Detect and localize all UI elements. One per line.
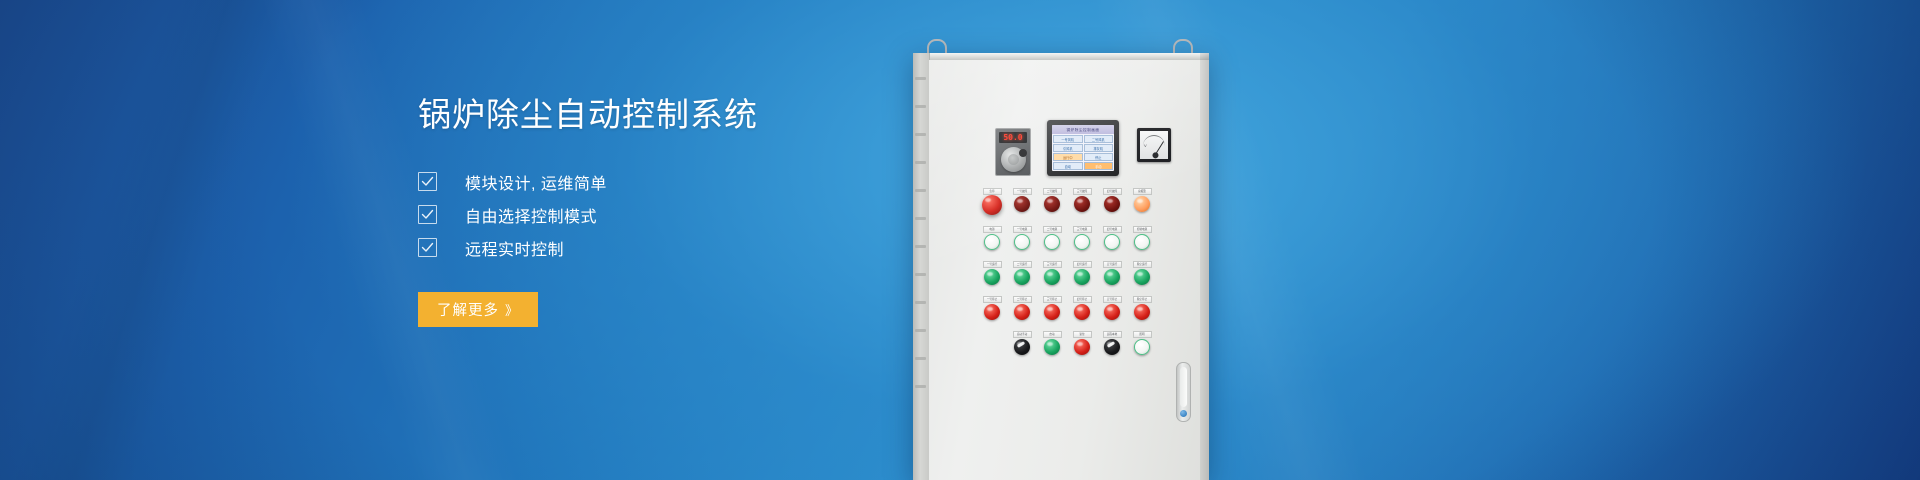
learn-more-button[interactable]: 了解更多 》 — [418, 292, 538, 327]
button-stop-4[interactable]: 四号停止 — [1067, 296, 1097, 320]
indicator-power[interactable]: 电源 — [977, 226, 1007, 250]
indicator-power-control[interactable]: 控制电源 — [1127, 226, 1157, 250]
button-tag: 四号电源 — [1103, 226, 1122, 233]
cabinet-top-edge — [913, 53, 1209, 60]
hmi-cell[interactable]: 运行中 — [1053, 153, 1083, 161]
indicator-run-4[interactable]: 四号运行 — [1067, 261, 1097, 285]
checkbox-checked-icon — [418, 205, 437, 224]
meter-scale-arc — [1143, 135, 1165, 146]
lamp-icon[interactable] — [1074, 339, 1090, 355]
hmi-cell[interactable]: 一号风机 — [1053, 135, 1083, 143]
checkbox-checked-icon — [418, 172, 437, 191]
lamp-icon[interactable] — [1104, 196, 1120, 212]
switch-lighting[interactable]: 照明 — [1127, 331, 1157, 355]
button-tag: 控制电源 — [1133, 226, 1152, 233]
page-title: 锅炉除尘自动控制系统 — [418, 95, 938, 135]
indicator-button-panel: 急停 一号故障 二号故障 三号故障 四号故障 总报警 电源 一号电源 二号电源 … — [977, 188, 1187, 366]
button-row: 一号运行 二号运行 三号运行 四号运行 五号运行 除尘运行 — [977, 261, 1187, 285]
hmi-header-label: 锅炉除尘控制画面 — [1066, 127, 1099, 133]
button-tag: 除尘运行 — [1133, 261, 1152, 268]
button-stop-1[interactable]: 一号停止 — [977, 296, 1007, 320]
lamp-icon[interactable] — [1104, 304, 1120, 320]
chevron-right-icon: 》 — [505, 300, 519, 319]
hmi-cell[interactable]: 手动 — [1084, 162, 1114, 170]
cabinet-door: 50.0 锅炉除尘控制画面 一号风机 二号风机 引风机 排灰 — [929, 60, 1209, 480]
button-tag: 急停 — [983, 188, 1002, 195]
button-stop-dust[interactable]: 除尘停止 — [1127, 296, 1157, 320]
button-tag: 二号运行 — [1013, 261, 1032, 268]
indicator-fault-3[interactable]: 三号故障 — [1067, 188, 1097, 215]
lamp-icon[interactable] — [982, 195, 1002, 215]
button-tag: 二号停止 — [1013, 296, 1032, 303]
selector-switch-icon[interactable] — [1104, 339, 1120, 355]
cabinet-right-edge — [1200, 53, 1209, 480]
button-tag: 一号停止 — [983, 296, 1002, 303]
lamp-icon[interactable] — [1014, 304, 1030, 320]
cabinet-body: 50.0 锅炉除尘控制画面 一号风机 二号风机 引风机 排灰 — [913, 53, 1209, 480]
button-tag: 一号故障 — [1013, 188, 1032, 195]
button-tag: 五号运行 — [1103, 261, 1122, 268]
button-tag: 四号运行 — [1073, 261, 1092, 268]
meter-face: V — [1140, 131, 1168, 159]
indicator-run-5[interactable]: 五号运行 — [1097, 261, 1127, 285]
button-tag: 启动 — [1043, 331, 1062, 338]
indicator-run-3[interactable]: 三号运行 — [1037, 261, 1067, 285]
button-tag: 电源 — [983, 226, 1002, 233]
button-tag: 照明 — [1133, 331, 1152, 338]
lamp-icon[interactable] — [1044, 234, 1060, 250]
indicator-run-dust[interactable]: 除尘运行 — [1127, 261, 1157, 285]
lamp-icon[interactable] — [984, 234, 1000, 250]
indicator-run-2[interactable]: 二号运行 — [1007, 261, 1037, 285]
hmi-grid: 一号风机 二号风机 引风机 排灰机 运行中 停止 自动 手动 — [1052, 134, 1114, 171]
lamp-icon[interactable] — [1104, 234, 1120, 250]
indicator-fault-1[interactable]: 一号故障 — [1007, 188, 1037, 215]
indicator-power-2[interactable]: 二号电源 — [1037, 226, 1067, 250]
led-display: 50.0 — [999, 132, 1027, 143]
lamp-icon[interactable] — [1074, 304, 1090, 320]
lamp-icon[interactable] — [1044, 196, 1060, 212]
button-tag: 五号停止 — [1103, 296, 1122, 303]
selector-switch-icon[interactable] — [1014, 339, 1030, 355]
lamp-icon[interactable] — [1074, 196, 1090, 212]
lamp-icon[interactable] — [1014, 234, 1030, 250]
feature-list: 模块设计, 运维简单 自由选择控制模式 远程实时控制 — [418, 165, 938, 264]
button-stop-5[interactable]: 五号停止 — [1097, 296, 1127, 320]
lamp-icon[interactable] — [1044, 269, 1060, 285]
selector-auto-manual[interactable]: 自动手动 — [1007, 331, 1037, 355]
indicator-power-3[interactable]: 三号电源 — [1067, 226, 1097, 250]
lamp-icon[interactable] — [1104, 269, 1120, 285]
button-stop-3[interactable]: 三号停止 — [1037, 296, 1067, 320]
lamp-icon[interactable] — [1134, 196, 1150, 212]
cabinet-hinge-strip — [913, 53, 930, 480]
list-item: 远程实时控制 — [418, 231, 938, 264]
button-tag: 除尘停止 — [1133, 296, 1152, 303]
hmi-cell[interactable]: 停止 — [1084, 153, 1114, 161]
hmi-screen[interactable]: 锅炉除尘控制画面 一号风机 二号风机 引风机 排灰机 运行中 停止 自动 手动 — [1052, 125, 1114, 171]
lamp-icon[interactable] — [1134, 304, 1150, 320]
list-item: 自由选择控制模式 — [418, 198, 938, 231]
list-item: 模块设计, 运维简单 — [418, 165, 938, 198]
lamp-icon[interactable] — [1074, 234, 1090, 250]
digital-speed-controller[interactable]: 50.0 — [995, 128, 1031, 176]
banner-copy: 锅炉除尘自动控制系统 模块设计, 运维简单 自由选择控制模式 远程实时控制 — [418, 95, 938, 327]
selector-remote-local[interactable]: 远程本地 — [1097, 331, 1127, 355]
hmi-cell[interactable]: 二号风机 — [1084, 135, 1114, 143]
meter-unit-label: V — [1144, 143, 1147, 148]
rotary-knob[interactable] — [1001, 147, 1026, 172]
button-tag: 总报警 — [1133, 188, 1152, 195]
button-tag: 一号运行 — [983, 261, 1002, 268]
button-tag: 三号运行 — [1043, 261, 1062, 268]
lamp-icon[interactable] — [1014, 269, 1030, 285]
feature-label: 自由选择控制模式 — [465, 203, 597, 227]
button-stop-2[interactable]: 二号停止 — [1007, 296, 1037, 320]
lamp-icon[interactable] — [1014, 196, 1030, 212]
lamp-icon[interactable] — [1044, 339, 1060, 355]
button-tag: 复位 — [1073, 331, 1092, 338]
button-tag: 三号电源 — [1073, 226, 1092, 233]
lamp-icon[interactable] — [984, 269, 1000, 285]
door-lock-icon[interactable] — [1180, 410, 1187, 417]
button-tag: 二号电源 — [1043, 226, 1062, 233]
button-tag: 一号电源 — [1013, 226, 1032, 233]
button-row: 电源 一号电源 二号电源 三号电源 四号电源 控制电源 — [977, 226, 1187, 250]
hmi-cell[interactable]: 排灰机 — [1084, 144, 1114, 152]
button-tag: 四号故障 — [1103, 188, 1122, 195]
indicator-power-4[interactable]: 四号电源 — [1097, 226, 1127, 250]
indicator-power-1[interactable]: 一号电源 — [1007, 226, 1037, 250]
indicator-alarm-main[interactable]: 总报警 — [1127, 188, 1157, 215]
hmi-cell[interactable]: 引风机 — [1053, 144, 1083, 152]
hmi-touch-panel[interactable]: 锅炉除尘控制画面 一号风机 二号风机 引风机 排灰机 运行中 停止 自动 手动 — [1047, 120, 1119, 176]
feature-label: 远程实时控制 — [465, 236, 564, 260]
cabinet-door-handle[interactable] — [1176, 362, 1191, 422]
button-tag: 三号故障 — [1073, 188, 1092, 195]
lamp-icon[interactable] — [1134, 269, 1150, 285]
button-tag: 远程本地 — [1103, 331, 1122, 338]
lamp-icon[interactable] — [1134, 339, 1150, 355]
button-row: 急停 一号故障 二号故障 三号故障 四号故障 总报警 — [977, 188, 1187, 215]
button-reset[interactable]: 复位 — [1067, 331, 1097, 355]
emergency-stop-button[interactable]: 急停 — [977, 188, 1007, 215]
lamp-icon[interactable] — [984, 304, 1000, 320]
control-cabinet: 50.0 锅炉除尘控制画面 一号风机 二号风机 引风机 排灰 — [905, 40, 1225, 480]
lamp-icon[interactable] — [1044, 304, 1060, 320]
indicator-fault-2[interactable]: 二号故障 — [1037, 188, 1067, 215]
indicator-fault-4[interactable]: 四号故障 — [1097, 188, 1127, 215]
learn-more-label: 了解更多 — [437, 299, 499, 320]
meter-needle-icon — [1154, 141, 1164, 156]
button-row: 一号停止 二号停止 三号停止 四号停止 五号停止 除尘停止 — [977, 296, 1187, 320]
hmi-cell[interactable]: 自动 — [1053, 162, 1083, 170]
button-start[interactable]: 启动 — [1037, 331, 1067, 355]
indicator-run-1[interactable]: 一号运行 — [977, 261, 1007, 285]
analog-panel-meter: V — [1137, 128, 1171, 162]
button-tag: 四号停止 — [1073, 296, 1092, 303]
button-tag: 自动手动 — [1013, 331, 1032, 338]
led-value: 50.0 — [1003, 134, 1022, 142]
button-row: 自动手动 启动 复位 远程本地 照明 — [977, 331, 1187, 355]
hmi-header: 锅炉除尘控制画面 — [1052, 125, 1114, 134]
feature-label: 模块设计, 运维简单 — [465, 170, 607, 194]
hero-banner: 锅炉除尘自动控制系统 模块设计, 运维简单 自由选择控制模式 远程实时控制 — [0, 0, 1920, 480]
checkbox-checked-icon — [418, 238, 437, 257]
lamp-icon[interactable] — [1074, 269, 1090, 285]
lamp-icon[interactable] — [1134, 234, 1150, 250]
button-tag: 三号停止 — [1043, 296, 1062, 303]
button-tag: 二号故障 — [1043, 188, 1062, 195]
